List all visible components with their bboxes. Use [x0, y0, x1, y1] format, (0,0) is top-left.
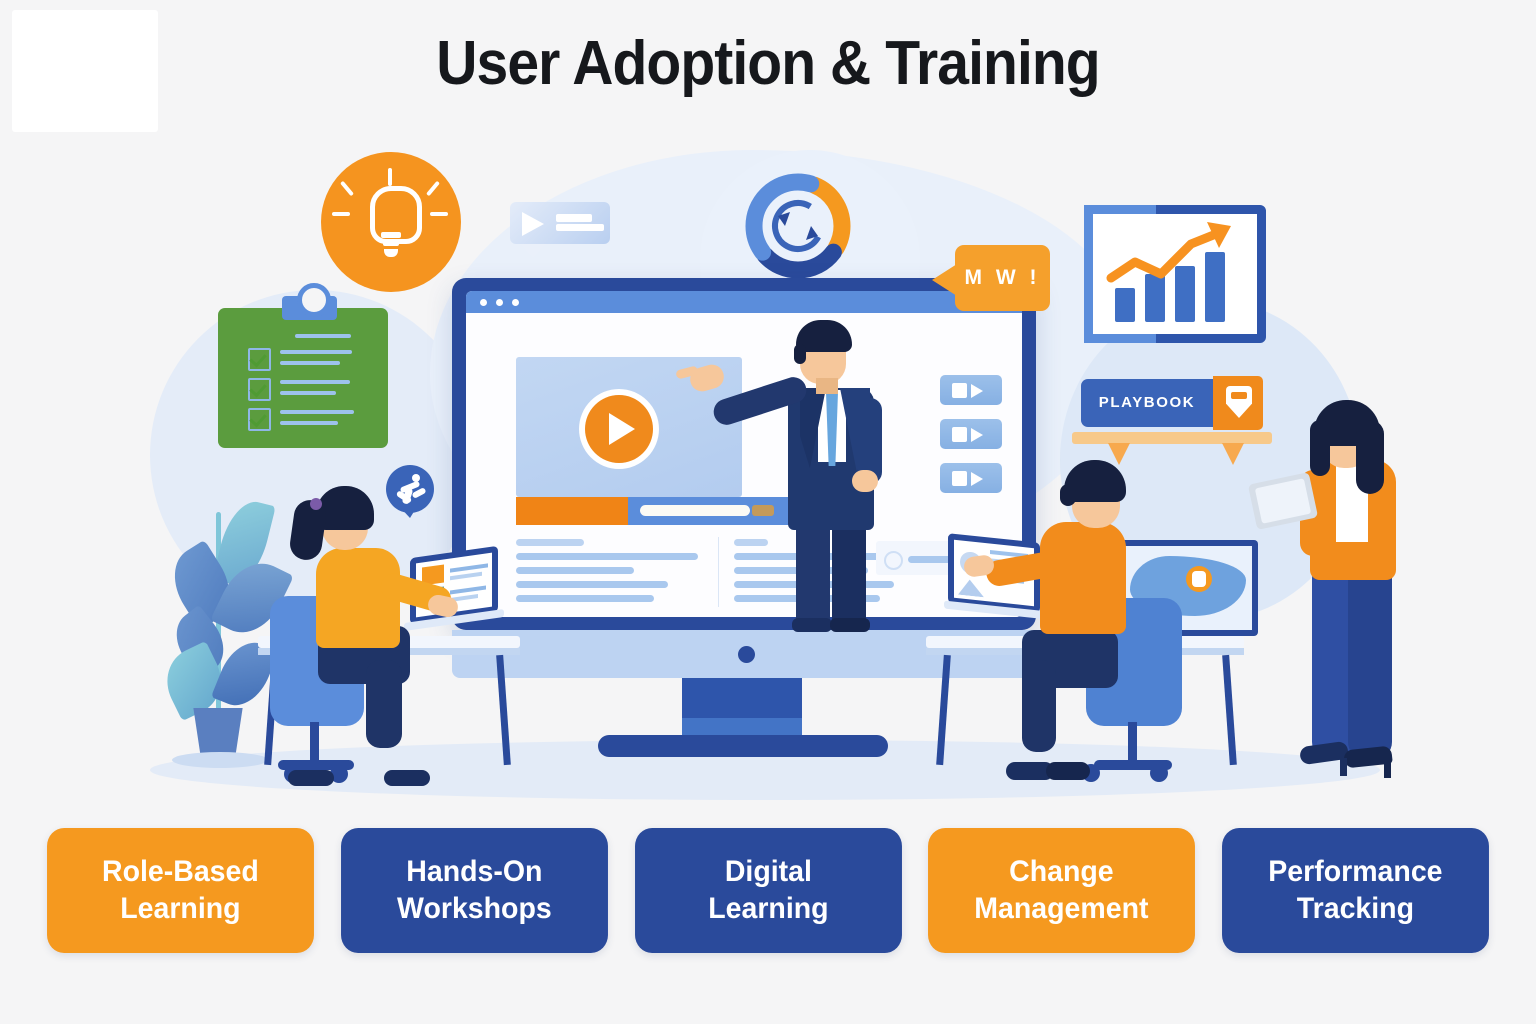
monitor-led-icon [738, 646, 755, 663]
category-pill-label-line: Hands-On [406, 854, 542, 891]
category-pill-label-line: Management [975, 891, 1149, 928]
progress-bar-fill [516, 497, 628, 525]
playlist-tile[interactable] [940, 375, 1002, 405]
checkmark-icon [248, 408, 271, 431]
category-pill-label-line: Role-Based [102, 854, 259, 891]
playbook-label: PLAYBOOK [1081, 394, 1213, 411]
checkmark-icon [248, 348, 271, 371]
checkmark-icon [248, 378, 271, 401]
page-title: User Adoption & Training [61, 28, 1474, 99]
window-dot-icon [512, 299, 519, 306]
category-pill-label-line: Tracking [1297, 891, 1414, 928]
category-pill-label-line: Learning [708, 891, 828, 928]
category-pill-row: Role-BasedLearningHands-OnWorkshopsDigit… [40, 828, 1496, 953]
category-pill[interactable]: PerformanceTracking [1222, 828, 1489, 953]
playlist-tile[interactable] [940, 463, 1002, 493]
category-pill-label-line: Workshops [397, 891, 552, 928]
playlist-tile[interactable] [940, 419, 1002, 449]
category-pill-label-line: Learning [120, 891, 240, 928]
category-pill-label-line: Change [1010, 854, 1115, 891]
progress-handle[interactable] [752, 505, 774, 516]
monitor-screen [466, 291, 1022, 617]
refresh-cycle-icon [738, 166, 858, 286]
category-pill[interactable]: ChangeManagement [928, 828, 1195, 953]
illustration-stage: User Adoption & Training [0, 0, 1536, 1024]
category-pill-label-line: Digital [724, 854, 811, 891]
window-dot-icon [496, 299, 503, 306]
category-pill[interactable]: Hands-OnWorkshops [341, 828, 608, 953]
window-dot-icon [480, 299, 487, 306]
speech-bubble-text: M W ! [955, 266, 1050, 290]
category-pill[interactable]: Role-BasedLearning [47, 828, 314, 953]
category-pill-label-line: Performance [1268, 854, 1442, 891]
category-pill[interactable]: DigitalLearning [635, 828, 902, 953]
